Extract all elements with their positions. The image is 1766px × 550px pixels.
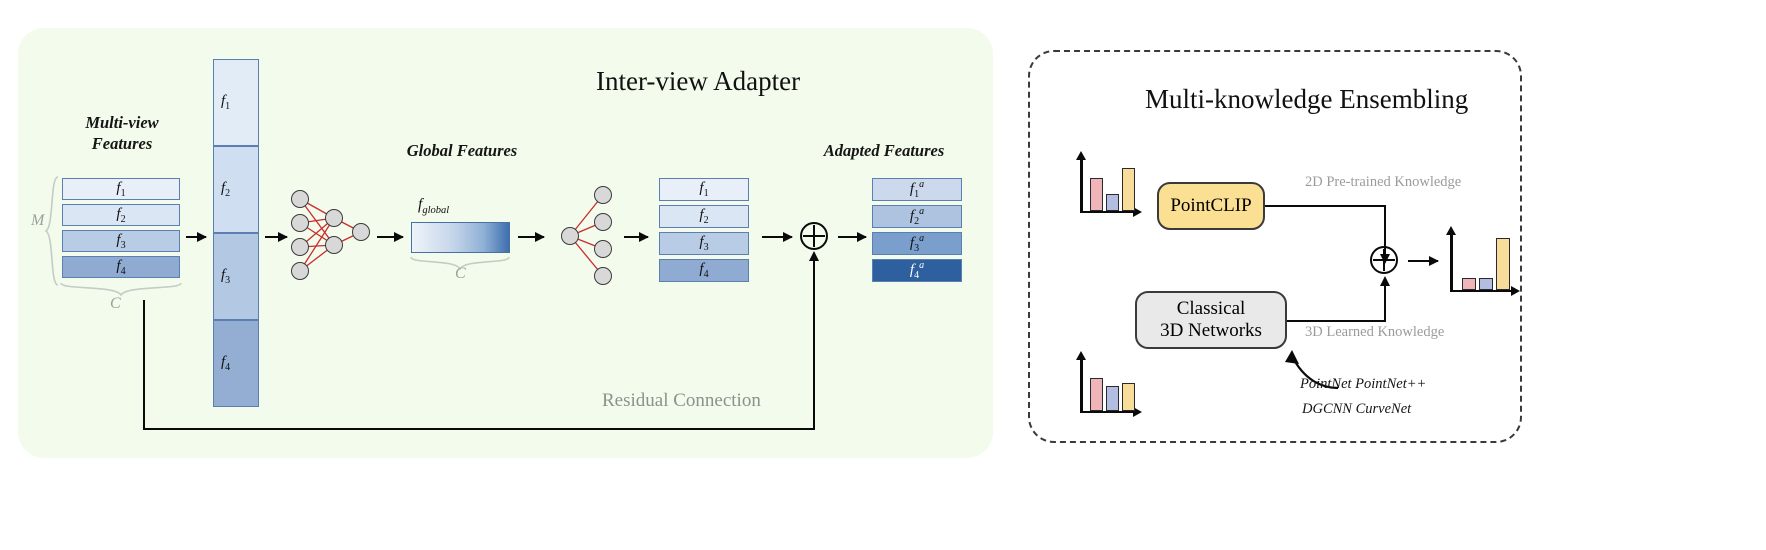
dim-C-global-label: C <box>455 265 466 283</box>
brace-M-icon <box>44 176 60 286</box>
classical-line2: 3D Networks <box>1160 320 1262 341</box>
arrow-to-concat <box>186 236 206 238</box>
arrow-to-sum <box>762 236 792 238</box>
residual-line-horizontal <box>143 428 814 430</box>
chart-classical3d-input <box>1080 355 1142 413</box>
edge-3d-horizontal <box>1287 320 1386 322</box>
pointclip-box[interactable]: PointCLIP <box>1157 182 1265 230</box>
feature-row: f3 <box>213 233 259 320</box>
bar-c2 <box>1479 278 1493 290</box>
encoder-node <box>291 238 309 256</box>
feature-row: f2 <box>659 205 749 228</box>
encoder-node <box>325 209 343 227</box>
multi-view-feature-stack: f1 f2 f3 f4 <box>62 178 180 282</box>
residual-line-vertical-left <box>143 300 145 430</box>
knowledge-2d-label: 2D Pre-trained Knowledge <box>1305 174 1461 191</box>
edge-3d-arrow-up <box>1384 285 1386 322</box>
dim-C-left-label: C <box>110 295 121 313</box>
classical-3d-networks-box[interactable]: Classical 3D Networks <box>1135 291 1287 349</box>
decoder-node <box>561 227 579 245</box>
feature-row: f1 <box>62 178 180 200</box>
feature-row: f1 <box>213 59 259 146</box>
encoder-node <box>291 190 309 208</box>
feature-row: f1 <box>659 178 749 201</box>
feature-row: f4 <box>62 256 180 278</box>
multi-knowledge-ensembling-title: Multi-knowledge Ensembling <box>1145 84 1468 115</box>
decoder-node <box>594 240 612 258</box>
f-global-label: fglobal <box>418 196 449 216</box>
arrow-to-output-stack <box>624 236 648 238</box>
encoder-node <box>352 223 370 241</box>
global-features-label: Global Features <box>382 140 542 161</box>
network-names-row2: DGCNN CurveNet <box>1302 401 1411 418</box>
network-names-row1: PointNet PointNet++ <box>1300 376 1426 393</box>
inter-view-adapter-title: Inter-view Adapter <box>596 66 800 97</box>
figure-canvas: Inter-view Adapter Multi-viewFeatures Gl… <box>0 0 1766 550</box>
feature-row: f4 <box>659 259 749 282</box>
edge-2d-horizontal <box>1265 205 1385 207</box>
brace-C-left-icon <box>60 282 182 297</box>
feature-row: f3 <box>659 232 749 255</box>
classical-3d-networks-label: Classical 3D Networks <box>1160 298 1262 343</box>
bar-c2 <box>1106 194 1119 211</box>
knowledge-3d-label: 3D Learned Knowledge <box>1305 324 1444 341</box>
feature-row: f4 <box>213 320 259 407</box>
ensemble-sum-icon <box>1370 246 1398 274</box>
bar-c3 <box>1122 383 1135 411</box>
bar-c3 <box>1122 168 1135 211</box>
feature-row: f3 <box>62 230 180 252</box>
bar-c1 <box>1090 378 1103 411</box>
bar-c2 <box>1106 386 1119 411</box>
global-feature-bar <box>411 222 510 253</box>
adapted-feature-stack: f1a f2a f3a f4a <box>872 178 962 286</box>
feature-row: f4a <box>872 259 962 282</box>
residual-connection-label: Residual Connection <box>602 390 761 412</box>
output-feature-stack: f1 f2 f3 f4 <box>659 178 749 286</box>
feature-row: f2a <box>872 205 962 228</box>
bar-c1 <box>1090 178 1103 211</box>
decoder-node <box>594 267 612 285</box>
residual-arrow-up <box>813 260 815 430</box>
arrow-to-adapted-stack <box>838 236 866 238</box>
decoder-node <box>594 186 612 204</box>
bar-c3 <box>1496 238 1510 290</box>
arrow-to-output-chart <box>1408 260 1438 262</box>
feature-row: f2 <box>62 204 180 226</box>
decoder-node <box>594 213 612 231</box>
chart-ensembled-output <box>1450 230 1522 292</box>
concatenated-feature-bar: f1 f2 f3 f4 <box>213 59 259 407</box>
dim-M-label: M <box>31 212 44 230</box>
arrow-to-decoder <box>518 236 544 238</box>
adapted-features-label: Adapted Features <box>800 140 968 161</box>
feature-row: f1a <box>872 178 962 201</box>
encoder-node <box>291 214 309 232</box>
bar-c1 <box>1462 278 1476 290</box>
feature-row: f3a <box>872 232 962 255</box>
arrow-to-encoder <box>265 236 287 238</box>
arrow-to-global <box>377 236 403 238</box>
encoder-node <box>291 262 309 280</box>
classical-line1: Classical <box>1177 298 1246 319</box>
feature-row: f2 <box>213 146 259 233</box>
chart-pointclip-input <box>1080 155 1142 213</box>
residual-sum-icon <box>800 222 828 250</box>
multi-view-features-label: Multi-viewFeatures <box>62 112 182 154</box>
encoder-node <box>325 236 343 254</box>
